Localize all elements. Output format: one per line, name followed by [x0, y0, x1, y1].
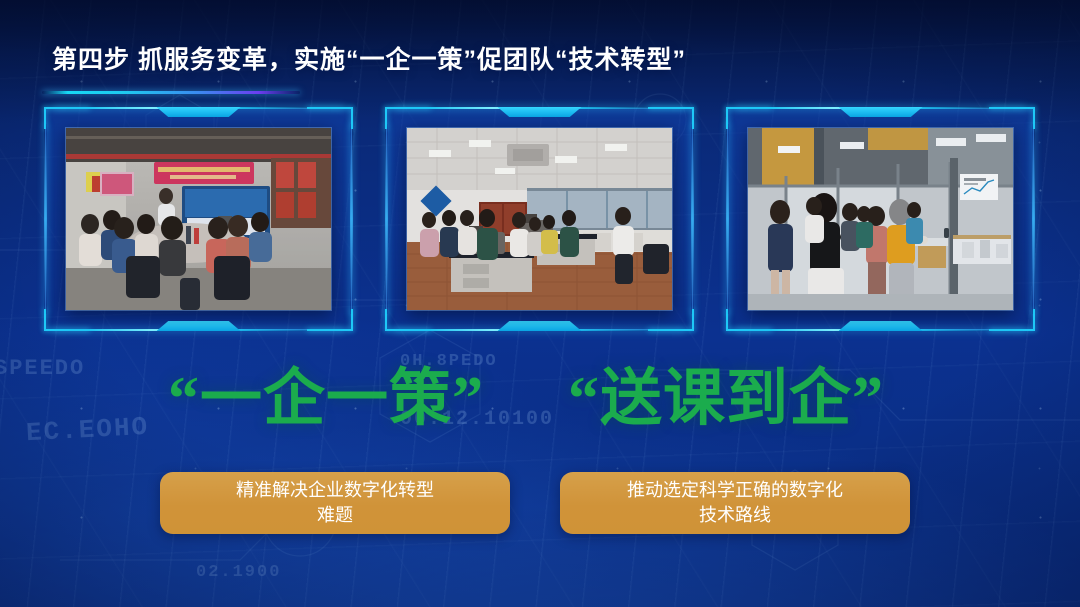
presentation-slide: SPEEDO EC.EOHO 00.12.10100 0H.8PEDO 02.1…	[0, 0, 1080, 607]
photo-classroom-training	[66, 128, 331, 310]
description-pill-2[interactable]: 推动选定科学正确的数字化 技术路线	[560, 472, 910, 534]
photo-gallery	[0, 108, 1080, 330]
frame-bottom-tab-3	[839, 321, 923, 331]
photo-frame-2[interactable]	[386, 108, 693, 330]
frame-right-glow-3	[1032, 124, 1035, 314]
frame-top-tab-1	[157, 107, 241, 117]
slogan-heading-2: “送课到企”	[568, 355, 884, 443]
ghost-text-4: 02.1900	[196, 563, 281, 582]
frame-top-tab-2	[498, 107, 582, 117]
description-pill-1[interactable]: 精准解决企业数字化转型 难题	[160, 472, 510, 534]
frame-right-glow-1	[350, 124, 353, 314]
photo-cleanroom-visit	[748, 128, 1013, 310]
slide-title: 第四步 抓服务变革，实施“一企一策”促团队“技术转型”	[52, 40, 686, 76]
frame-top-tab-3	[839, 107, 923, 117]
slogan-1-open-quote: “	[168, 365, 200, 433]
frame-left-glow-2	[385, 124, 388, 314]
frame-right-glow-2	[691, 124, 694, 314]
slogan-heading-1: “一企一策”	[168, 355, 484, 443]
description-pill-2-text: 推动选定科学正确的数字化 技术路线	[627, 478, 843, 528]
slogan-1-text: 一企一策	[200, 364, 452, 433]
slogan-1-close-quote: ”	[452, 365, 484, 433]
photo-workshop-demonstration	[407, 128, 672, 310]
slogan-row: “一企一策” “送课到企”	[0, 355, 1080, 445]
title-underline-rule	[42, 91, 300, 94]
frame-bottom-tab-1	[157, 321, 241, 331]
slogan-2-text: 送课到企	[600, 364, 852, 433]
slogan-2-close-quote: ”	[852, 365, 884, 433]
description-pill-1-text: 精准解决企业数字化转型 难题	[236, 478, 434, 528]
frame-left-glow-1	[44, 124, 47, 314]
frame-bottom-tab-2	[498, 321, 582, 331]
photo-frame-3[interactable]	[727, 108, 1034, 330]
frame-left-glow-3	[726, 124, 729, 314]
slogan-2-open-quote: “	[568, 365, 600, 433]
photo-frame-1[interactable]	[45, 108, 352, 330]
